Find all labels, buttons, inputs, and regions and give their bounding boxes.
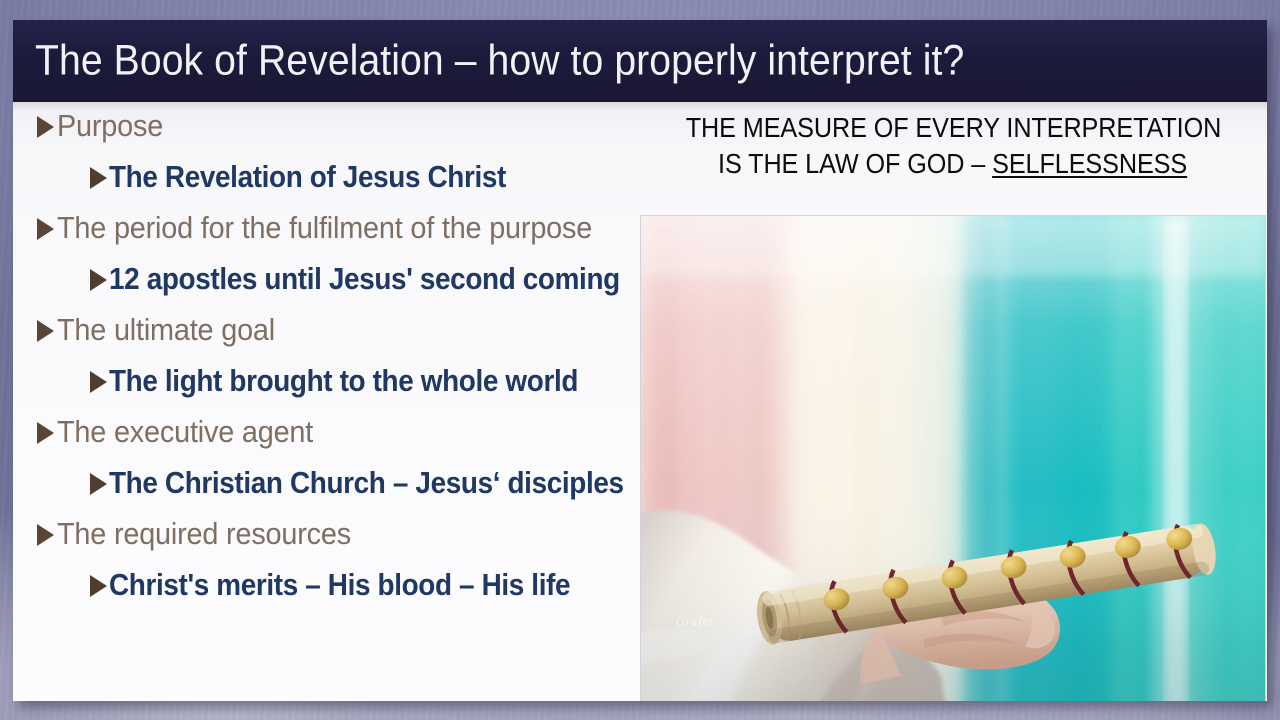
bullet-label: The executive agent <box>57 414 313 450</box>
triangle-bullet-icon <box>37 524 54 546</box>
bullet-label: Purpose <box>57 108 163 144</box>
presentation-slide: The Book of Revelation – how to properly… <box>13 20 1267 701</box>
bullet-item-level2: 12 apostles until Jesus' second coming <box>90 261 637 312</box>
bullet-item-level1: The required resources <box>37 516 637 567</box>
bullet-item-level1: Purpose <box>37 108 637 159</box>
bullet-list: Purpose The Revelation of Jesus Christ T… <box>37 108 637 618</box>
bullet-item-level2: Christ's merits – His blood – His life <box>90 567 637 618</box>
heading-line-2: IS THE LAW OF GOD – SELFLESSNESS <box>641 146 1265 182</box>
bullet-label: The period for the fulfilment of the pur… <box>57 210 592 246</box>
triangle-bullet-icon <box>90 371 107 393</box>
heading-line-1: THE MEASURE OF EVERY INTERPRETATION <box>641 110 1265 146</box>
heading-line-2-underlined: SELFLESSNESS <box>993 148 1188 179</box>
triangle-bullet-icon <box>37 116 54 138</box>
bullet-item-level2: The light brought to the whole world <box>90 363 637 414</box>
triangle-bullet-icon <box>90 167 107 189</box>
bullet-item-level2: The Christian Church – Jesus‘ disciples <box>90 465 637 516</box>
bullet-label: The light brought to the whole world <box>109 363 578 399</box>
triangle-bullet-icon <box>90 269 107 291</box>
bullet-label: The ultimate goal <box>57 312 275 348</box>
triangle-bullet-icon <box>37 422 54 444</box>
bullet-label: Christ's merits – His blood – His life <box>109 567 570 603</box>
bullet-item-level1: The period for the fulfilment of the pur… <box>37 210 637 261</box>
slide-body: Purpose The Revelation of Jesus Christ T… <box>13 102 1267 701</box>
scroll-with-seven-seals-illustration <box>641 216 1265 701</box>
bullet-label: The Revelation of Jesus Christ <box>109 159 506 195</box>
triangle-bullet-icon <box>37 218 54 240</box>
bullet-item-level1: The ultimate goal <box>37 312 637 363</box>
triangle-bullet-icon <box>90 575 107 597</box>
right-column-heading: THE MEASURE OF EVERY INTERPRETATION IS T… <box>641 110 1265 182</box>
slide-title: The Book of Revelation – how to properly… <box>35 37 964 86</box>
slide-title-bar: The Book of Revelation – how to properly… <box>13 20 1267 102</box>
bullet-label: The Christian Church – Jesus‘ disciples <box>109 465 624 501</box>
bullet-label: The required resources <box>57 516 351 552</box>
bullet-item-level1: The executive agent <box>37 414 637 465</box>
slide-picture: Grafez <box>641 216 1265 701</box>
triangle-bullet-icon <box>90 473 107 495</box>
bullet-item-level2: The Revelation of Jesus Christ <box>90 159 637 210</box>
bullet-label: 12 apostles until Jesus' second coming <box>109 261 620 297</box>
triangle-bullet-icon <box>37 320 54 342</box>
heading-line-2-prefix: IS THE LAW OF GOD – <box>718 148 992 179</box>
